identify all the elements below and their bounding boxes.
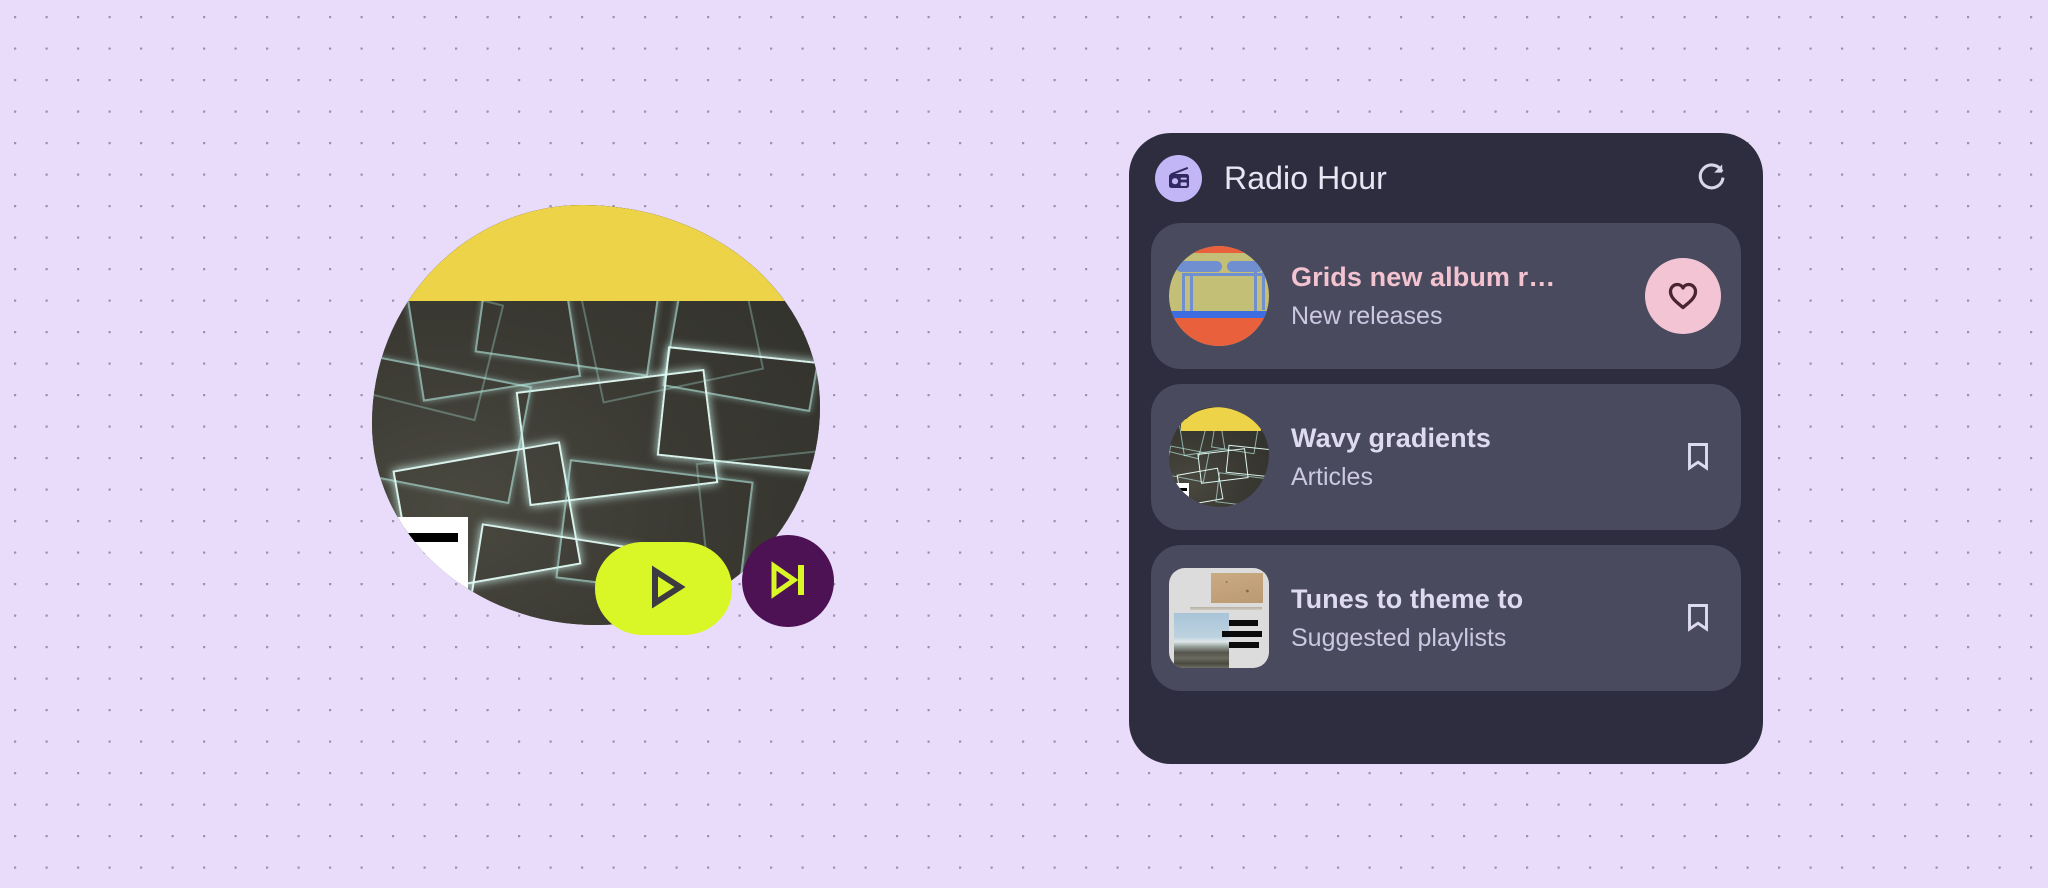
list-item-title: Tunes to theme to xyxy=(1291,582,1675,617)
list-item-title: Wavy gradients xyxy=(1291,421,1675,456)
bookmark-icon xyxy=(1681,600,1715,637)
list-item-subtitle: Suggested playlists xyxy=(1291,623,1675,654)
list-item[interactable]: Wavy gradients Articles xyxy=(1151,384,1741,530)
list-item-text: Wavy gradients Articles xyxy=(1291,421,1675,493)
favorite-button[interactable] xyxy=(1645,258,1721,334)
page-title: Radio Hour xyxy=(1224,160,1387,197)
bookmark-button[interactable] xyxy=(1675,434,1721,480)
bookmark-button[interactable] xyxy=(1675,595,1721,641)
artwork-black-corner xyxy=(394,533,458,611)
refresh-button[interactable] xyxy=(1691,157,1733,199)
radio-icon xyxy=(1155,155,1202,202)
play-triangle-icon xyxy=(638,561,690,616)
beach-photo-artwork xyxy=(1169,568,1269,668)
list-item[interactable]: Tunes to theme to Suggested playlists xyxy=(1151,545,1741,691)
canvas: Radio Hour xyxy=(0,0,2048,888)
radio-hour-panel: Radio Hour xyxy=(1129,133,1763,764)
wavy-gradient-artwork xyxy=(1169,407,1269,507)
list-item-subtitle: New releases xyxy=(1291,301,1645,332)
list-item-subtitle: Articles xyxy=(1291,462,1675,493)
artwork-yellow-band xyxy=(372,205,820,301)
list-item-text: Tunes to theme to Suggested playlists xyxy=(1291,582,1675,654)
khaki-grid-artwork xyxy=(1169,246,1269,346)
now-playing-artwork xyxy=(372,205,820,625)
list-item-text: Grids new album r… New releases xyxy=(1291,260,1645,332)
bookmark-icon xyxy=(1681,439,1715,476)
refresh-icon xyxy=(1695,160,1729,197)
skip-next-button[interactable] xyxy=(742,535,834,627)
play-button[interactable] xyxy=(595,542,732,635)
list-item[interactable]: Grids new album r… New releases xyxy=(1151,223,1741,369)
list-item-title: Grids new album r… xyxy=(1291,260,1645,295)
heart-icon xyxy=(1664,276,1702,317)
skip-next-icon xyxy=(763,555,813,608)
panel-header: Radio Hour xyxy=(1151,133,1741,223)
